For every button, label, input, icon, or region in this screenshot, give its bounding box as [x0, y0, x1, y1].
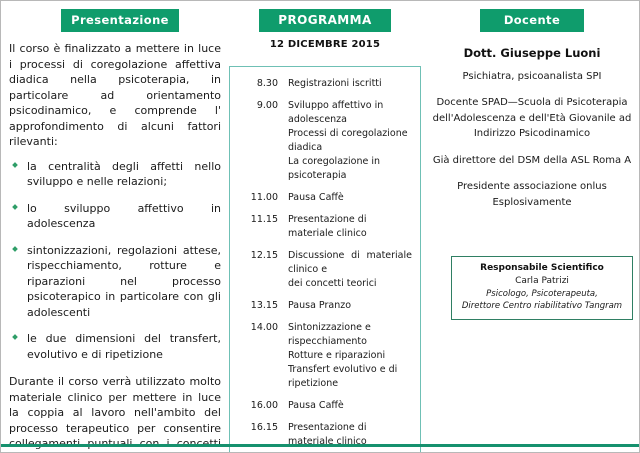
schedule-description: Registrazioni iscritti	[288, 77, 412, 91]
schedule-line: Sintonizzazione e rispecchiamento	[288, 321, 412, 349]
list-item: la centralità degli affetti nello svilup…	[9, 159, 221, 190]
responsabile-role-line-1: Psicologo, Psicoterapeuta,	[458, 288, 626, 300]
list-item-label: sintonizzazioni, regolazioni attese, ris…	[27, 244, 221, 319]
schedule-description: Pausa Pranzo	[288, 299, 412, 313]
table-row: 14.00 Sintonizzazione e rispecchiamento …	[238, 321, 412, 391]
docente-past-role: Già direttore del DSM della ASL Roma A	[429, 153, 635, 169]
responsabile-name: Carla Patrizi	[458, 275, 626, 288]
list-item-label: lo sviluppo affettivo in adolescenza	[27, 202, 221, 231]
programma-header: PROGRAMMA	[259, 9, 391, 32]
schedule-line: La coregolazione in psicoterapia	[288, 155, 412, 183]
list-item: le due dimensioni del transfert, evoluti…	[9, 331, 221, 362]
schedule-time: 8.30	[238, 77, 288, 91]
schedule-description: Presentazione di materiale clinico	[288, 213, 412, 241]
list-item: lo sviluppo affettivo in adolescenza	[9, 201, 221, 232]
schedule-time: 12.15	[238, 249, 288, 291]
schedule-time: 9.00	[238, 99, 288, 183]
schedule-table: 8.30 Registrazioni iscritti 9.00 Svilupp…	[229, 66, 421, 453]
column-docente: Docente Dott. Giuseppe Luoni Psichiatra,…	[429, 1, 635, 320]
schedule-time: 11.00	[238, 191, 288, 205]
schedule-line: Pausa Pranzo	[288, 299, 412, 313]
docente-affiliation: Docente SPAD—Scuola di Psicoterapia dell…	[429, 95, 635, 142]
schedule-time: 16.00	[238, 399, 288, 413]
responsabile-role-line-2: Direttore Centro riabilitativo Tangram	[458, 300, 626, 312]
presentazione-bullet-list: la centralità degli affetti nello svilup…	[9, 159, 221, 363]
table-row: 11.15 Presentazione di materiale clinico	[238, 213, 412, 241]
schedule-time: 14.00	[238, 321, 288, 391]
footer-divider	[1, 444, 639, 447]
list-item-label: le due dimensioni del transfert, evoluti…	[27, 332, 221, 361]
schedule-line: Discussione di materiale clinico e	[288, 249, 412, 277]
schedule-line: Transfert evolutivo e di ripetizione	[288, 363, 412, 391]
presentazione-closing-paragraph: Durante il corso verrà utilizzato molto …	[9, 374, 221, 453]
schedule-description: Sintonizzazione e rispecchiamento Rottur…	[288, 321, 412, 391]
schedule-line: Sviluppo affettivo in adolescenza	[288, 99, 412, 127]
diamond-bullet-icon	[12, 334, 18, 340]
schedule-line: dei concetti teorici	[288, 277, 412, 291]
table-row: 12.15 Discussione di materiale clinico e…	[238, 249, 412, 291]
table-row: 9.00 Sviluppo affettivo in adolescenza P…	[238, 99, 412, 183]
docente-title: Psichiatra, psicoanalista SPI	[429, 69, 635, 84]
schedule-line: Pausa Caffè	[288, 191, 412, 205]
docente-association: Presidente associazione onlus Esplosivam…	[429, 179, 635, 210]
schedule-line: Pausa Caffè	[288, 399, 412, 413]
diamond-bullet-icon	[12, 204, 18, 210]
brochure-page: Presentazione Il corso è finalizzato a m…	[0, 0, 640, 453]
docente-name: Dott. Giuseppe Luoni	[429, 46, 635, 60]
table-row: 16.00 Pausa Caffè	[238, 399, 412, 413]
presentazione-intro-paragraph: Il corso è finalizzato a mettere in luce…	[9, 41, 221, 150]
table-row: 13.15 Pausa Pranzo	[238, 299, 412, 313]
column-presentazione: Presentazione Il corso è finalizzato a m…	[9, 1, 221, 453]
responsabile-scientifico-box: Responsabile Scientifico Carla Patrizi P…	[451, 256, 633, 320]
diamond-bullet-icon	[12, 246, 18, 252]
schedule-description: Pausa Caffè	[288, 191, 412, 205]
table-row: 8.30 Registrazioni iscritti	[238, 77, 412, 91]
programma-date: 12 DICEMBRE 2015	[229, 39, 421, 50]
docente-header: Docente	[480, 9, 584, 32]
schedule-description: Sviluppo affettivo in adolescenza Proces…	[288, 99, 412, 183]
presentazione-header: Presentazione	[61, 9, 179, 32]
schedule-line: Presentazione di materiale clinico	[288, 213, 412, 241]
schedule-description: Discussione di materiale clinico e dei c…	[288, 249, 412, 291]
diamond-bullet-icon	[12, 162, 18, 168]
column-programma: PROGRAMMA 12 DICEMBRE 2015 8.30 Registra…	[229, 1, 421, 453]
schedule-time: 11.15	[238, 213, 288, 241]
list-item-label: la centralità degli affetti nello svilup…	[27, 160, 221, 189]
schedule-line: Registrazioni iscritti	[288, 77, 412, 91]
list-item: sintonizzazioni, regolazioni attese, ris…	[9, 243, 221, 321]
responsabile-title: Responsabile Scientifico	[458, 262, 626, 275]
schedule-line: Rotture e riparazioni	[288, 349, 412, 363]
schedule-description: Pausa Caffè	[288, 399, 412, 413]
table-row: 11.00 Pausa Caffè	[238, 191, 412, 205]
schedule-time: 13.15	[238, 299, 288, 313]
schedule-line: Processi di coregolazione diadica	[288, 127, 412, 155]
